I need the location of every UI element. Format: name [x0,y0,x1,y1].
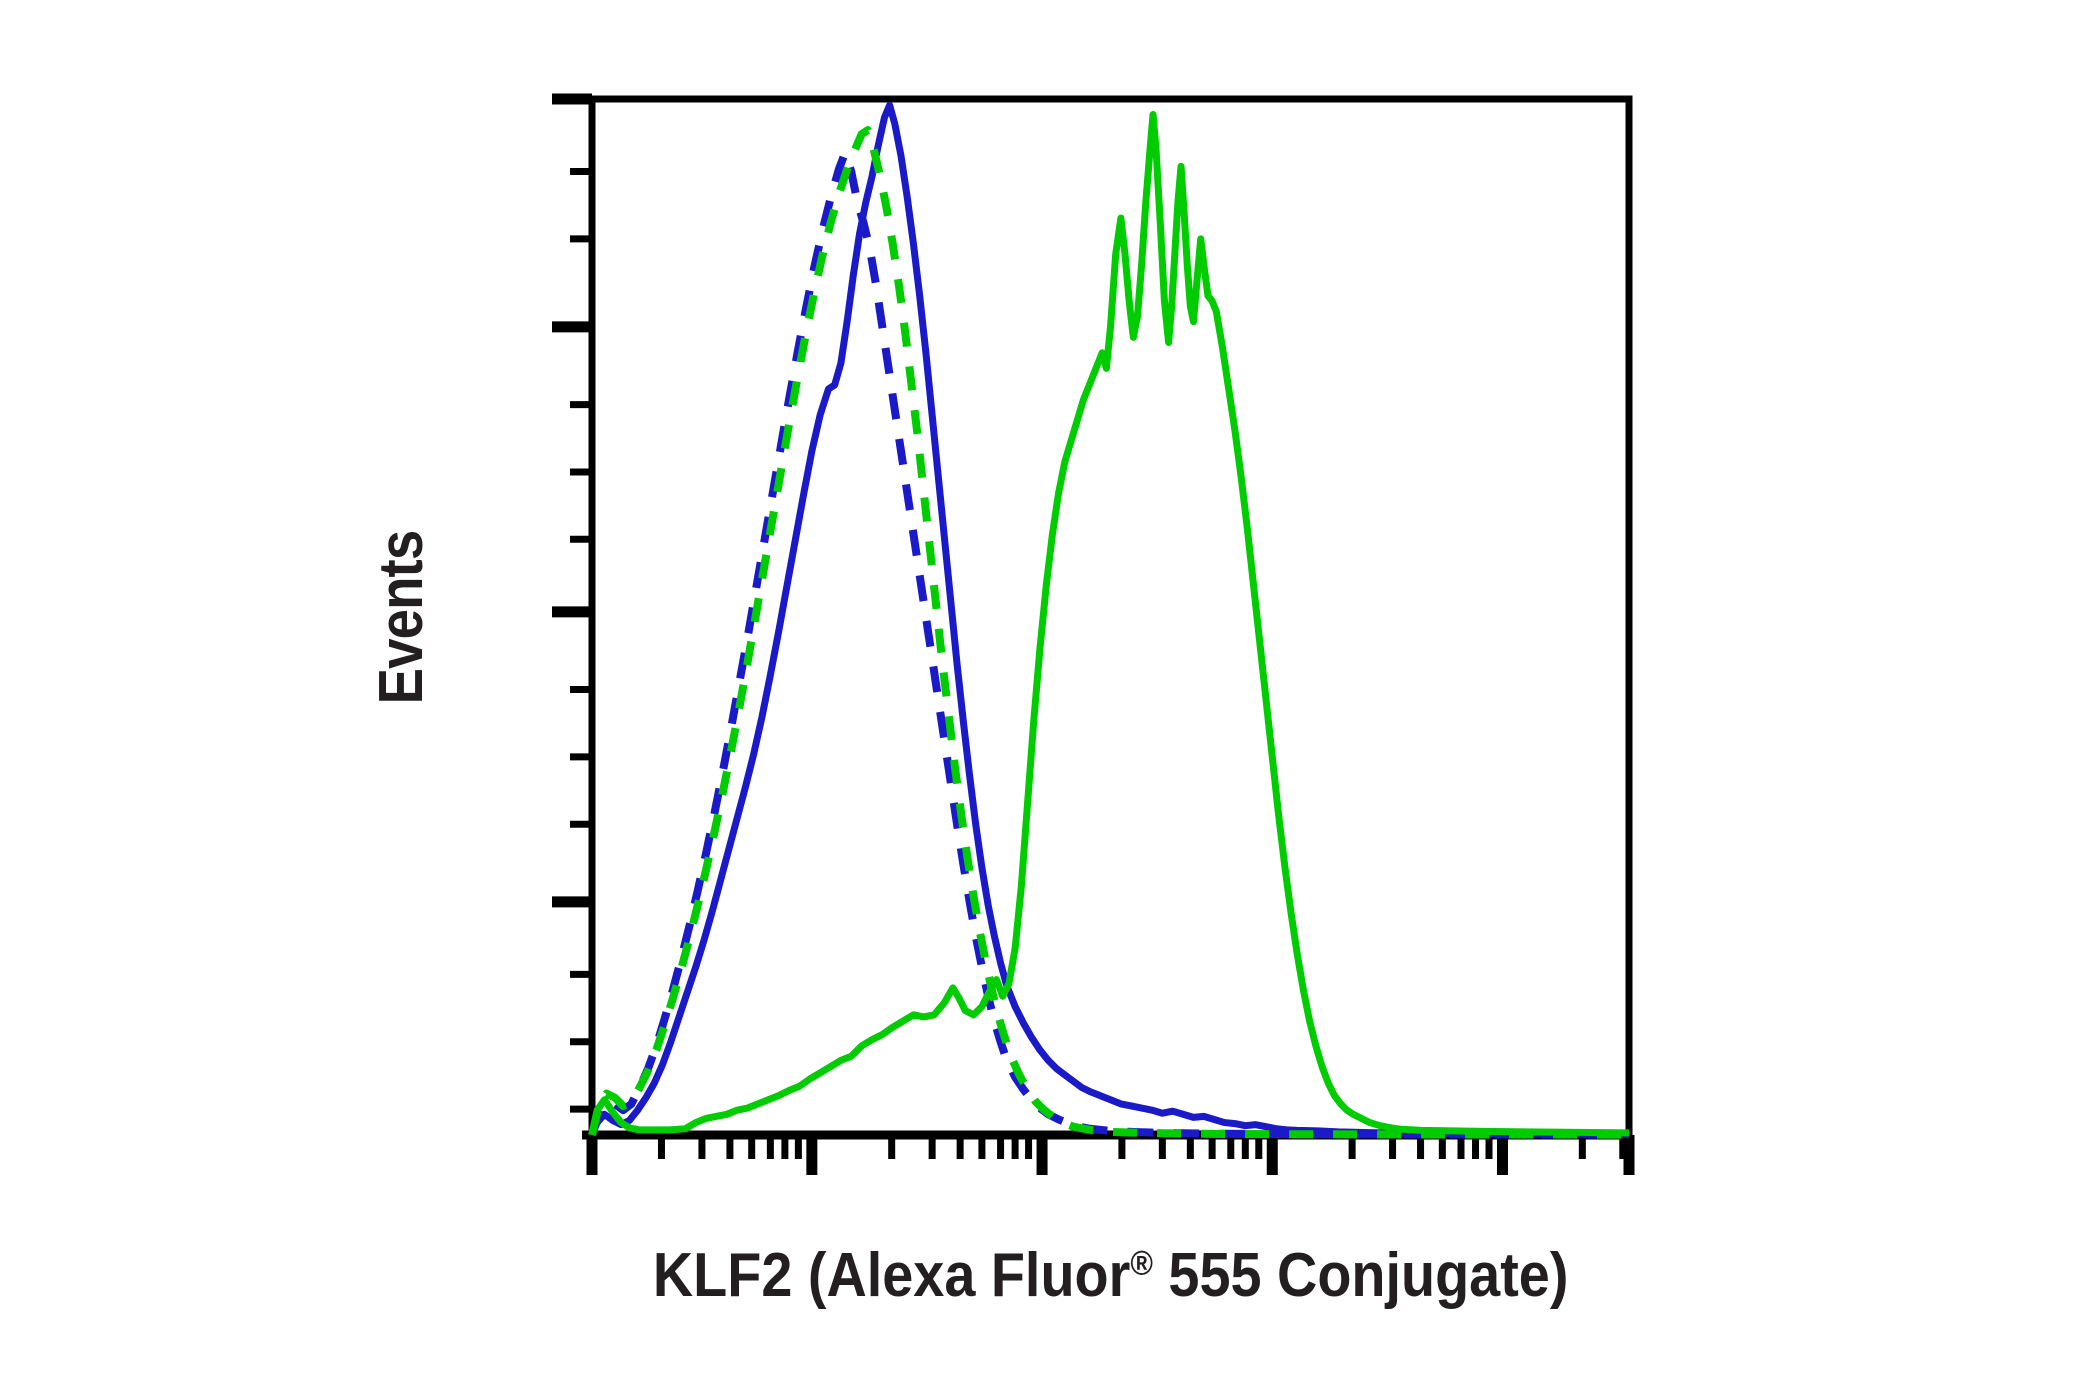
histogram-curves [592,105,1629,1135]
flow-cytometry-figure: Events KLF2 (Alexa Fluor® 555 Conjugate) [0,0,2080,1400]
plot-frame [582,99,1629,1135]
x-axis-title-main: KLF2 (Alexa Fluor [653,1241,1130,1310]
registered-trademark-icon: ® [1130,1244,1153,1282]
histogram-plot [0,0,2080,1400]
x-axis-title-suffix: 555 Conjugate) [1153,1241,1568,1310]
y-axis-ticks [552,99,592,1109]
x-axis-ticks [592,1135,1629,1175]
x-axis-title: KLF2 (Alexa Fluor® 555 Conjugate) [592,1240,1629,1311]
